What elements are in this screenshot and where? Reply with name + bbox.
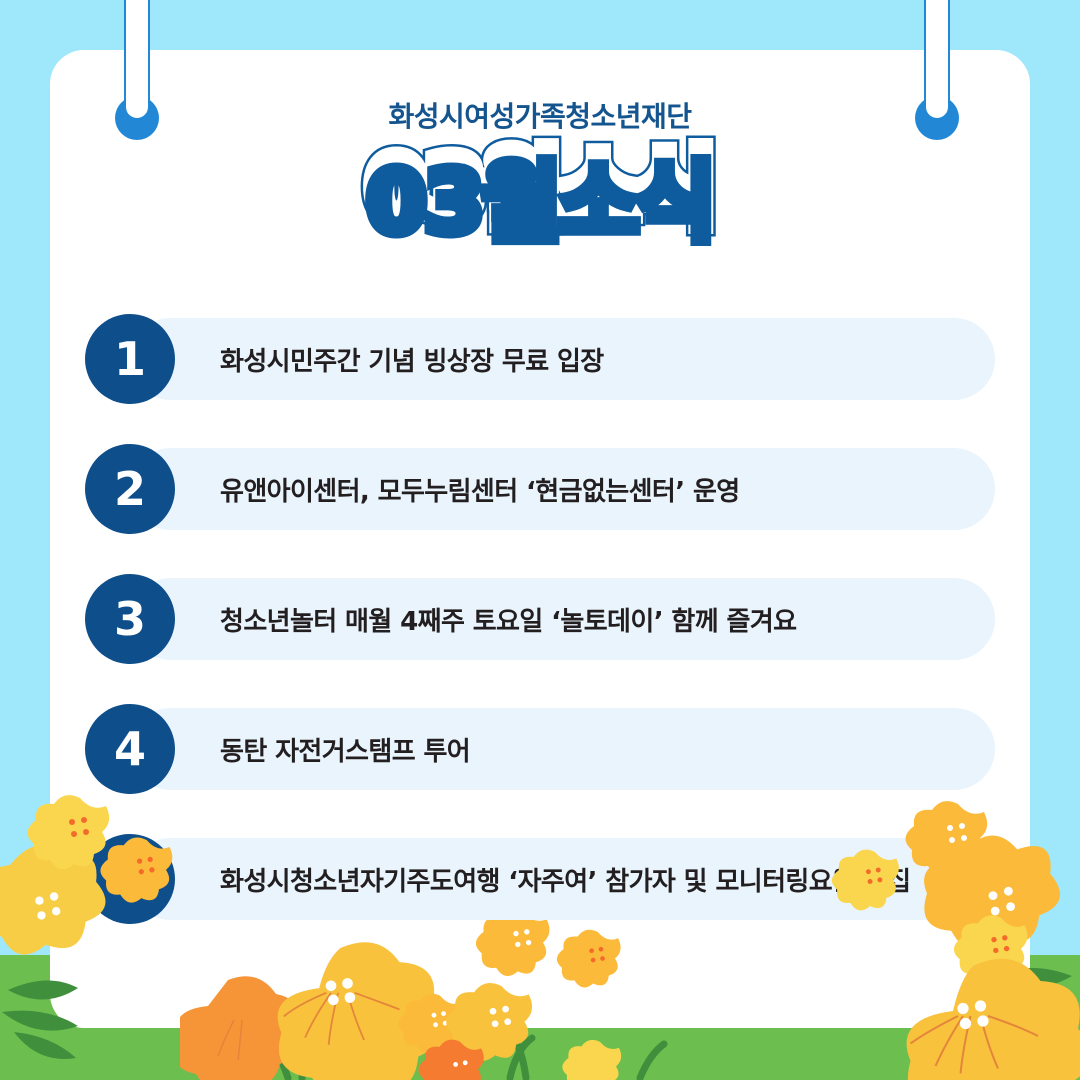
poster-canvas: 화성시여성가족청소년재단 03월소식 03월소식 03월소식 1 화성시민주간 … xyxy=(0,0,1080,1080)
news-title-4: 동탄 자전거스탬프 투어 xyxy=(220,708,470,790)
news-list: 1 화성시민주간 기념 빙상장 무료 입장 2 유앤아이센터, 모두누림센터 ‘… xyxy=(85,318,995,920)
title-text: 03월소식 xyxy=(366,158,713,248)
news-title-3: 청소년놀터 매월 4째주 토요일 ‘놀토데이’ 함께 즐겨요 xyxy=(220,578,796,660)
news-row-3[interactable]: 3 청소년놀터 매월 4째주 토요일 ‘놀토데이’ 함께 즐겨요 xyxy=(85,578,995,660)
news-row-5[interactable]: 5 화성시청소년자기주도여행 ‘자주여’ 참가자 및 모니터링요원 모집 xyxy=(85,838,995,920)
binder-ring-icon-right xyxy=(915,96,959,140)
hanger-strap-left xyxy=(115,0,159,144)
grass-band-bottom xyxy=(0,1028,1080,1080)
news-title-2: 유앤아이센터, 모두누림센터 ‘현금없는센터’ 운영 xyxy=(220,448,740,530)
news-row-1[interactable]: 1 화성시민주간 기념 빙상장 무료 입장 xyxy=(85,318,995,400)
binder-ring-icon-left xyxy=(115,96,159,140)
news-number-badge-4: 4 xyxy=(85,704,175,794)
news-title-5: 화성시청소년자기주도여행 ‘자주여’ 참가자 및 모니터링요원 모집 xyxy=(220,838,910,920)
organization-name: 화성시여성가족청소년재단 xyxy=(50,100,1030,134)
news-row-4[interactable]: 4 동탄 자전거스탬프 투어 xyxy=(85,708,995,790)
news-title-1: 화성시민주간 기념 빙상장 무료 입장 xyxy=(220,318,604,400)
news-number-badge-2: 2 xyxy=(85,444,175,534)
news-number-badge-1: 1 xyxy=(85,314,175,404)
page-title: 03월소식 03월소식 03월소식 xyxy=(366,144,713,248)
hanger-strap-right xyxy=(915,0,959,144)
poster-header: 화성시여성가족청소년재단 03월소식 03월소식 03월소식 xyxy=(50,100,1030,248)
news-row-2[interactable]: 2 유앤아이센터, 모두누림센터 ‘현금없는센터’ 운영 xyxy=(85,448,995,530)
news-number-badge-5: 5 xyxy=(85,834,175,924)
news-number-badge-3: 3 xyxy=(85,574,175,664)
